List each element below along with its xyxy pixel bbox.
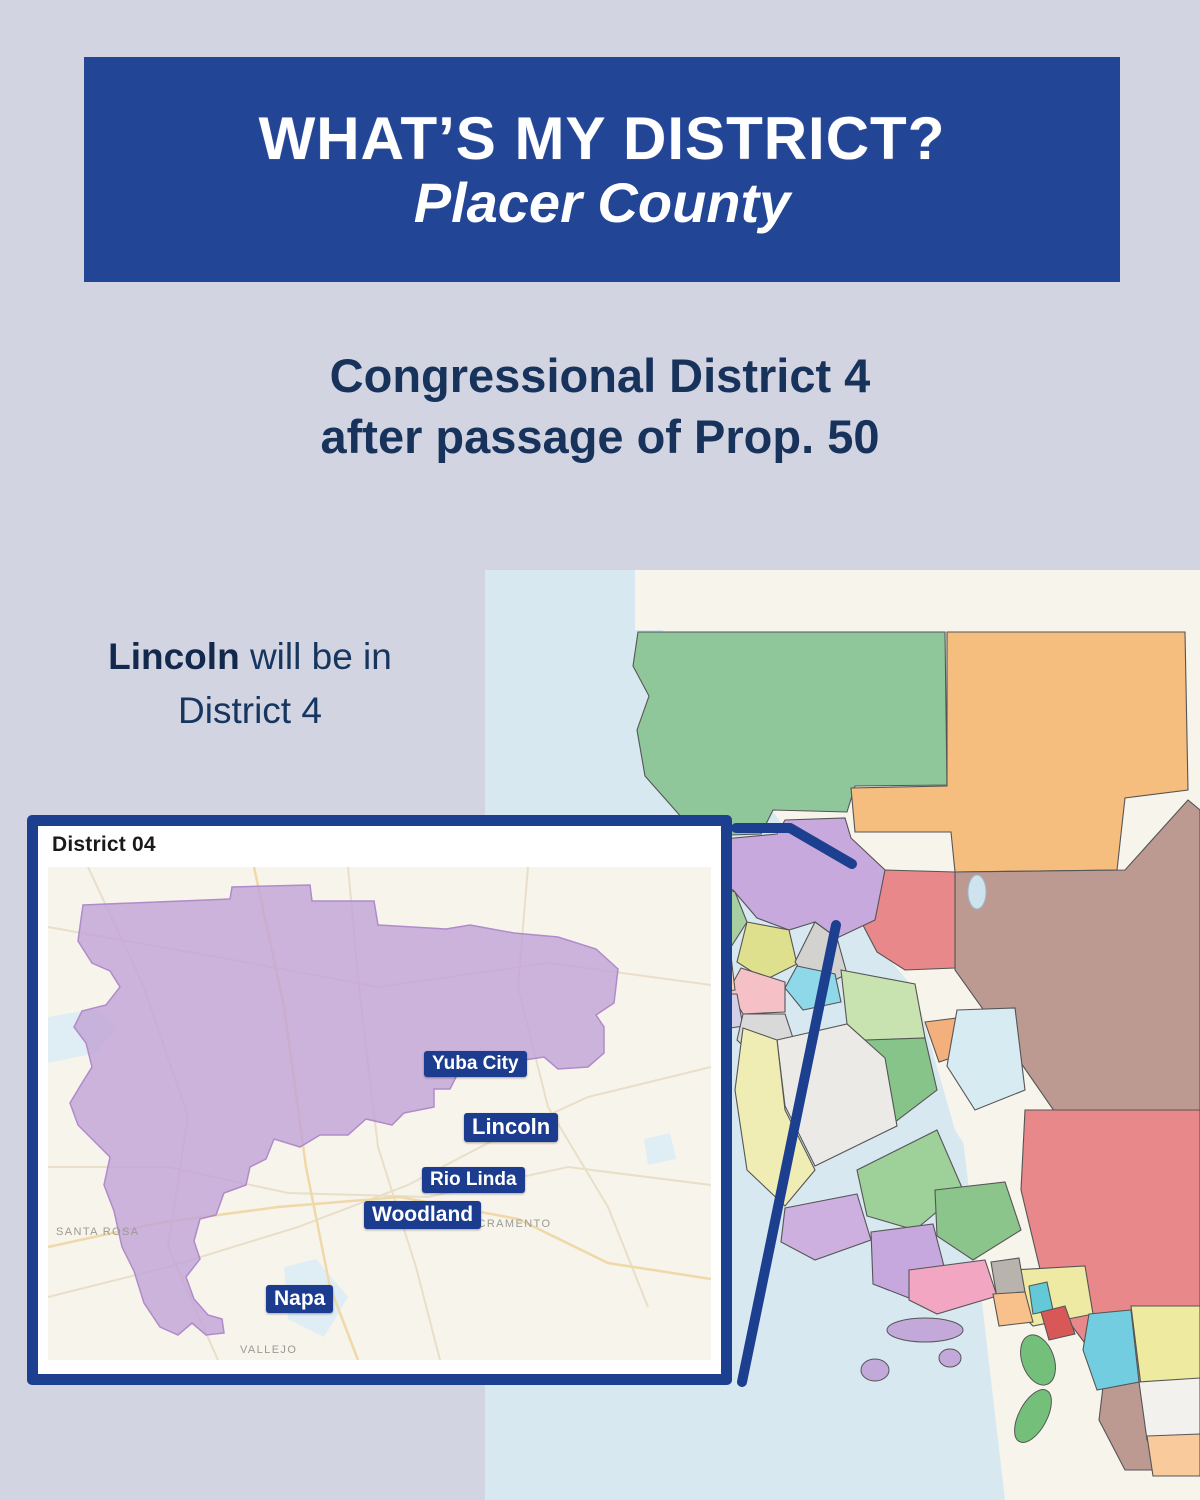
channel-island-2 xyxy=(861,1359,889,1381)
inset-inner: District 04 xyxy=(38,826,721,1374)
city-label-lincoln: Lincoln xyxy=(464,1113,558,1142)
city-label-woodland: Woodland xyxy=(364,1201,481,1229)
caption-line-1: Lincoln will be in xyxy=(30,630,470,684)
district-sd-white xyxy=(1139,1378,1200,1440)
city-label-rio-linda: Rio Linda xyxy=(422,1167,525,1193)
channel-island-3 xyxy=(939,1349,961,1367)
inset-title: District 04 xyxy=(52,833,156,857)
channel-island-1 xyxy=(887,1318,963,1342)
caption-rest: will be in xyxy=(240,636,392,677)
svg-text:SANTA ROSA: SANTA ROSA xyxy=(56,1226,139,1238)
page-title: WHAT’S MY DISTRICT? xyxy=(259,107,946,170)
caption-city: Lincoln xyxy=(108,636,240,677)
lake-tahoe xyxy=(968,875,986,909)
headline: Congressional District 4 after passage o… xyxy=(0,345,1200,467)
headline-line-2: after passage of Prop. 50 xyxy=(0,406,1200,467)
district-sd-yellow xyxy=(1131,1306,1200,1386)
header-banner: WHAT’S MY DISTRICT? Placer County xyxy=(84,57,1120,282)
headline-line-1: Congressional District 4 xyxy=(0,345,1200,406)
page-subtitle: Placer County xyxy=(414,174,791,233)
city-label-napa: Napa xyxy=(266,1285,333,1313)
district-sd-orange xyxy=(1147,1434,1200,1476)
district-inset-panel: District 04 xyxy=(27,815,732,1385)
city-label-yuba-city: Yuba City xyxy=(424,1051,527,1077)
caption: Lincoln will be in District 4 xyxy=(30,630,470,737)
district-04-detail-map: SACRAMENTO SANTA ROSA VALLEJO xyxy=(48,867,711,1360)
inset-map: SACRAMENTO SANTA ROSA VALLEJO Yuba City … xyxy=(48,867,711,1360)
caption-line-2: District 4 xyxy=(30,684,470,738)
svg-text:VALLEJO: VALLEJO xyxy=(240,1344,297,1356)
